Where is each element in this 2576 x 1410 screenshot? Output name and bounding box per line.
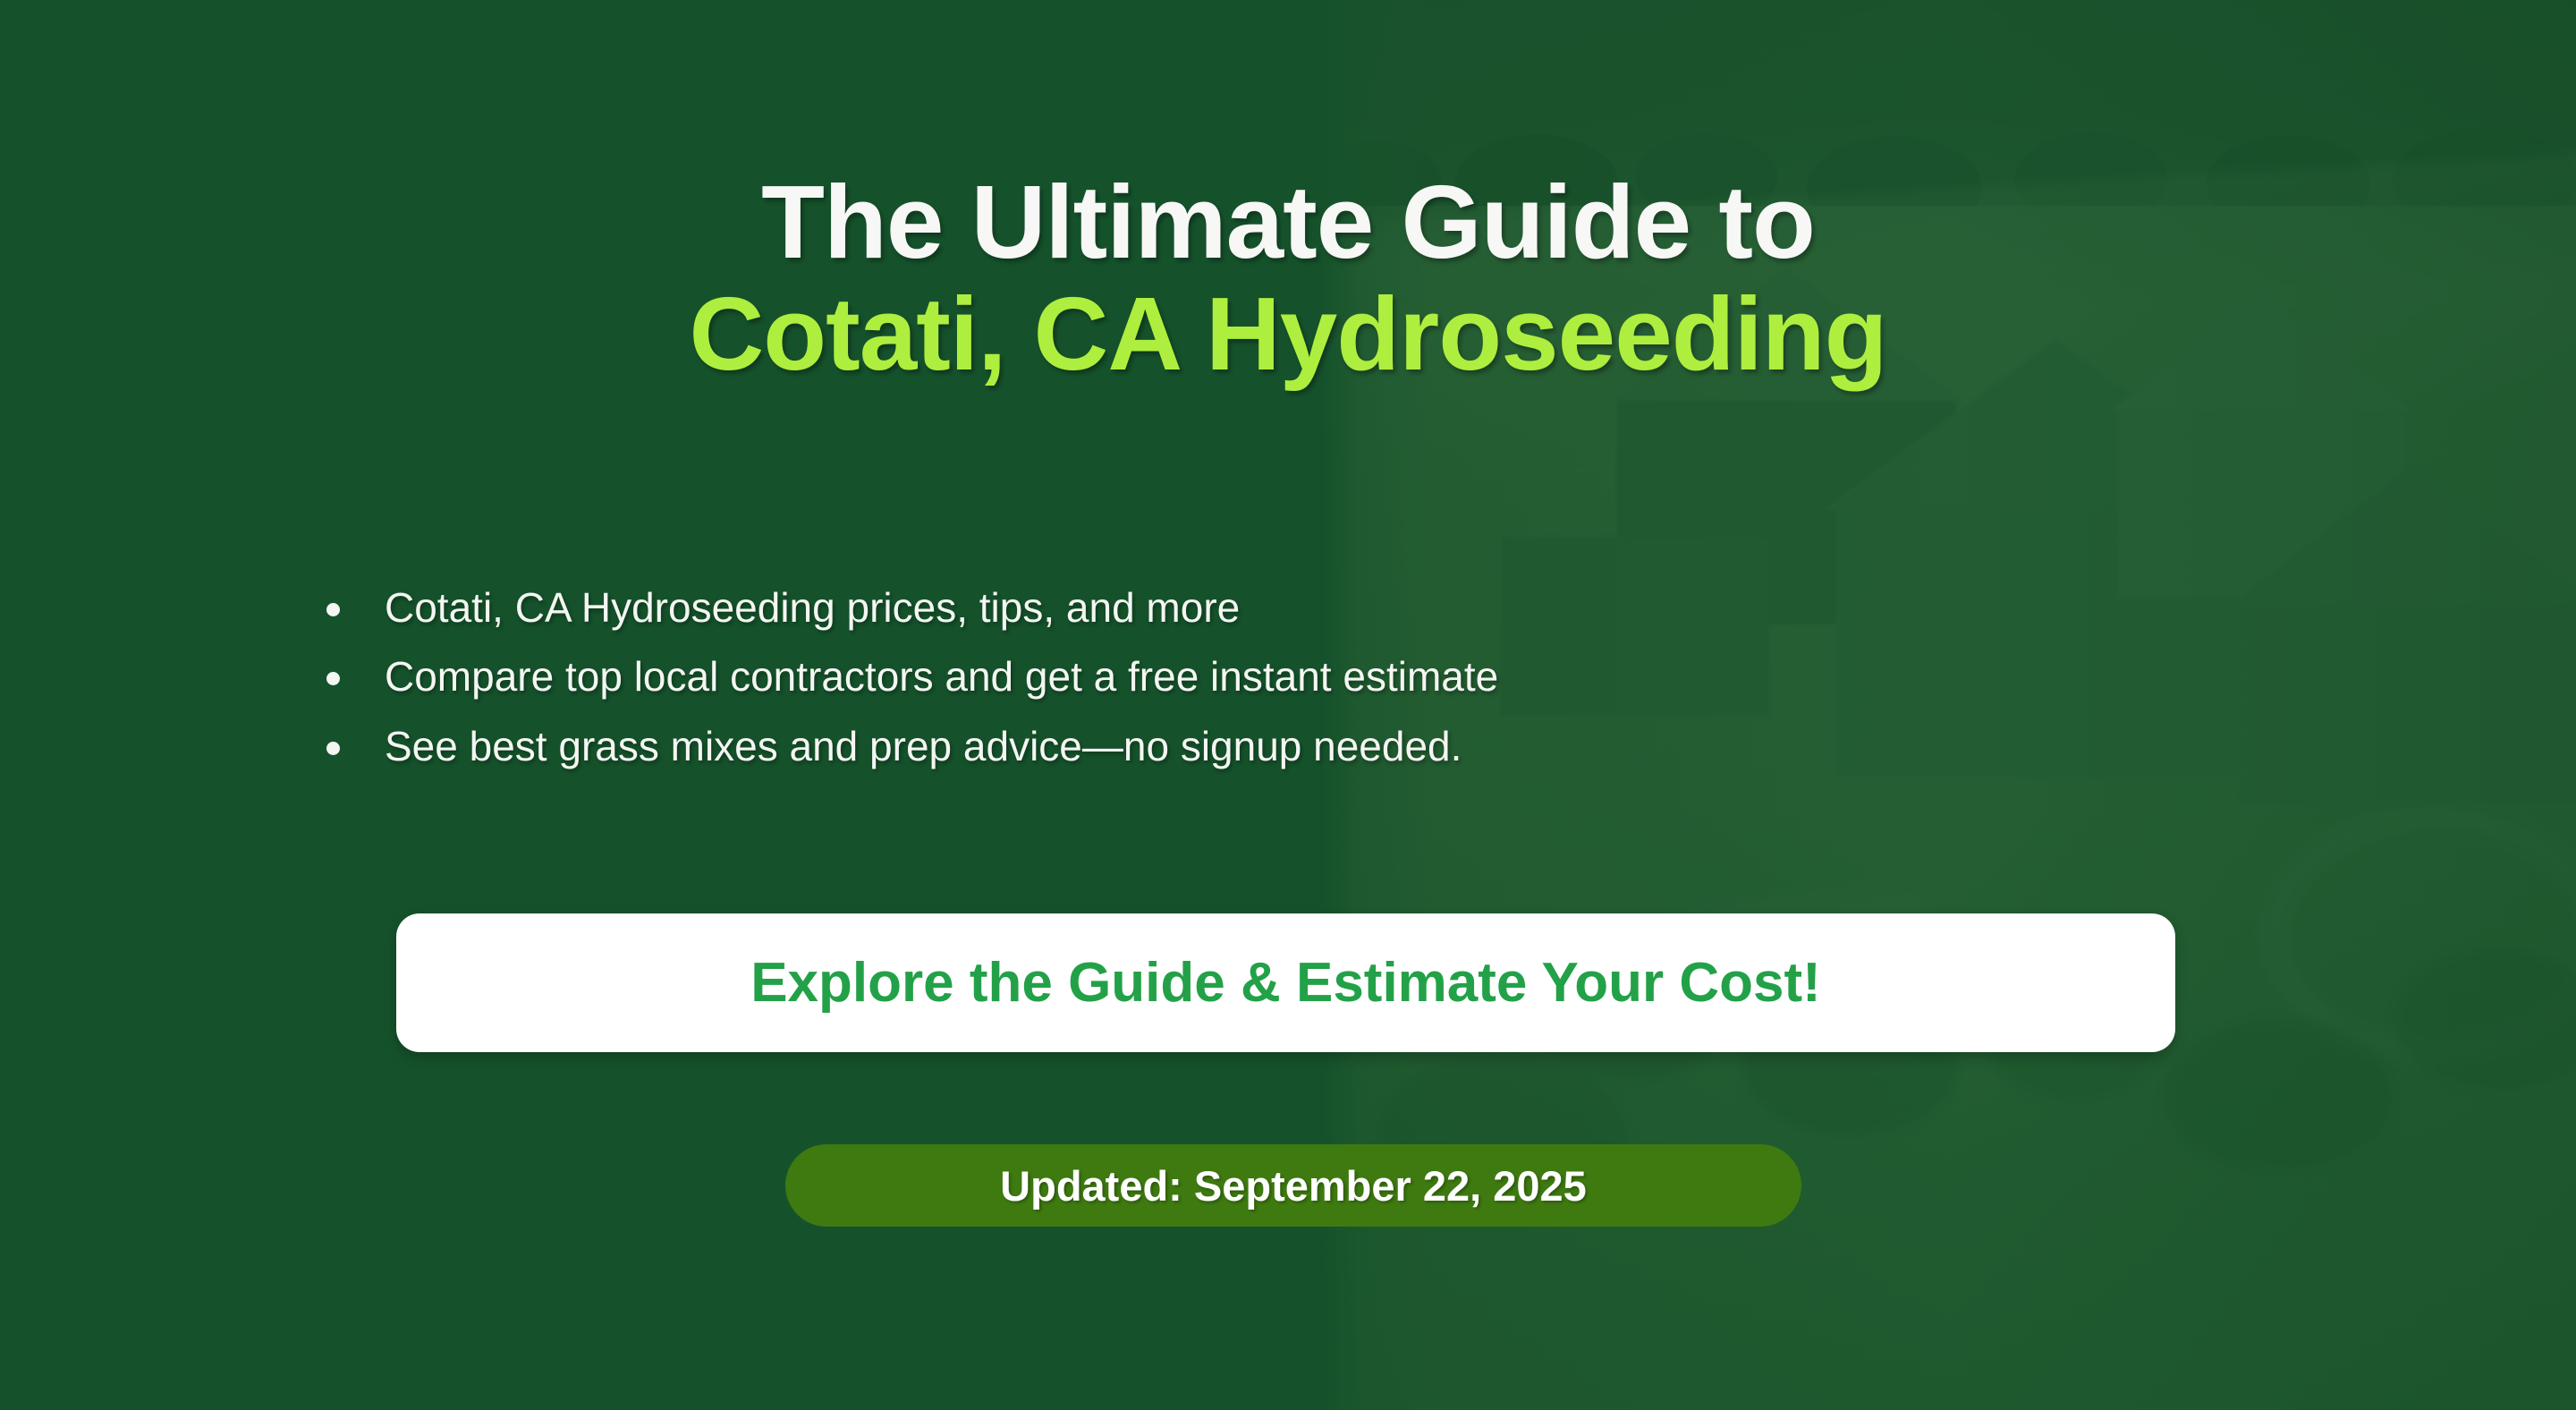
list-item: Compare top local contractors and get a … bbox=[304, 650, 1498, 702]
explore-guide-cta-button[interactable]: Explore the Guide & Estimate Your Cost! bbox=[396, 913, 2175, 1052]
bullet-dot-icon bbox=[326, 672, 340, 685]
bullet-dot-icon bbox=[326, 742, 340, 755]
updated-date-badge: Updated: September 22, 2025 bbox=[785, 1144, 1801, 1227]
list-item: See best grass mixes and prep advice—no … bbox=[304, 720, 1498, 772]
benefit-list: Cotati, CA Hydroseeding prices, tips, an… bbox=[304, 582, 1498, 789]
list-item-label: Compare top local contractors and get a … bbox=[385, 653, 1498, 700]
list-item-label: Cotati, CA Hydroseeding prices, tips, an… bbox=[385, 584, 1240, 631]
hero-content: The Ultimate Guide to Cotati, CA Hydrose… bbox=[0, 0, 2576, 1410]
page-title-line-1: The Ultimate Guide to bbox=[0, 166, 2576, 278]
bullet-dot-icon bbox=[326, 603, 340, 616]
page-title-line-2: Cotati, CA Hydroseeding bbox=[0, 278, 2576, 390]
page-title: The Ultimate Guide to Cotati, CA Hydrose… bbox=[0, 166, 2576, 391]
hero-banner: The Ultimate Guide to Cotati, CA Hydrose… bbox=[0, 0, 2576, 1410]
list-item-label: See best grass mixes and prep advice—no … bbox=[385, 723, 1462, 769]
list-item: Cotati, CA Hydroseeding prices, tips, an… bbox=[304, 582, 1498, 633]
